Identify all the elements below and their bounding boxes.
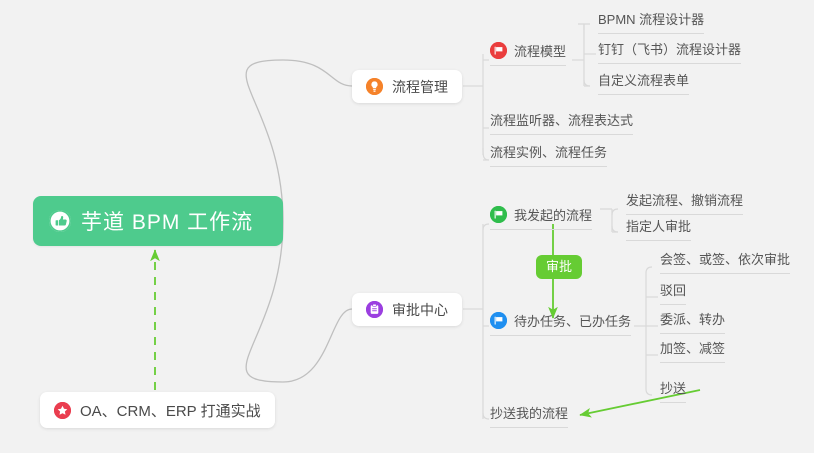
corner-assignee-approval bbox=[612, 226, 618, 232]
node-dingtalk-designer[interactable]: 钉钉（飞书）流程设计器 bbox=[598, 39, 741, 64]
node-flow-model[interactable]: 流程模型 bbox=[490, 41, 566, 66]
node-label-bpmn-designer: BPMN 流程设计器 bbox=[598, 9, 704, 28]
node-label-assignee-approval: 指定人审批 bbox=[626, 216, 691, 235]
node-label-cc: 抄送 bbox=[660, 378, 686, 397]
corner-bpmn bbox=[584, 24, 590, 30]
node-label-start-revoke-flow: 发起流程、撤销流程 bbox=[626, 190, 743, 209]
node-label-add-remove-sign: 加签、减签 bbox=[660, 338, 725, 357]
clipboard-icon bbox=[366, 301, 383, 318]
node-label-flow-instance: 流程实例、流程任务 bbox=[490, 142, 607, 161]
branch-node-process-management[interactable]: 流程管理 bbox=[352, 70, 462, 103]
node-label-delegate-transfer: 委派、转办 bbox=[660, 309, 725, 328]
node-countersign[interactable]: 会签、或签、依次审批 bbox=[660, 249, 790, 274]
node-bpmn-designer[interactable]: BPMN 流程设计器 bbox=[598, 9, 704, 34]
branch-node-approval-center[interactable]: 审批中心 bbox=[352, 293, 462, 326]
mindmap-canvas: 芋道 BPM 工作流 流程管理 流程模型 BPMN 流程设计器 钉钉（飞书 bbox=[0, 0, 814, 453]
node-cc[interactable]: 抄送 bbox=[660, 378, 686, 403]
node-flow-listener[interactable]: 流程监听器、流程表达式 bbox=[490, 110, 633, 135]
node-label-cc-my-flows: 抄送我的流程 bbox=[490, 403, 568, 422]
node-flow-instance[interactable]: 流程实例、流程任务 bbox=[490, 142, 607, 167]
node-label-flow-listener: 流程监听器、流程表达式 bbox=[490, 110, 633, 129]
node-custom-form[interactable]: 自定义流程表单 bbox=[598, 70, 689, 95]
node-add-remove-sign[interactable]: 加签、减签 bbox=[660, 338, 725, 363]
node-cc-my-flows[interactable]: 抄送我的流程 bbox=[490, 403, 568, 428]
node-label-countersign: 会签、或签、依次审批 bbox=[660, 249, 790, 268]
flag-icon bbox=[490, 206, 507, 223]
node-reject[interactable]: 驳回 bbox=[660, 280, 686, 305]
node-todo-done-tasks[interactable]: 待办任务、已办任务 bbox=[490, 311, 631, 336]
callout-label: OA、CRM、ERP 打通实战 bbox=[80, 400, 261, 421]
trunk-corner-instance bbox=[483, 148, 489, 160]
lightbulb-icon bbox=[366, 78, 383, 95]
trunk-flow-model bbox=[578, 24, 590, 86]
flag-icon bbox=[490, 42, 507, 59]
node-label-todo-done-tasks: 待办任务、已办任务 bbox=[514, 311, 631, 330]
node-label-dingtalk-designer: 钉钉（飞书）流程设计器 bbox=[598, 39, 741, 58]
thumbs-up-icon bbox=[49, 210, 71, 232]
star-icon bbox=[54, 402, 71, 419]
node-label-custom-form: 自定义流程表单 bbox=[598, 70, 689, 89]
branch-label-approval-center: 审批中心 bbox=[392, 300, 448, 320]
branch-label-process-management: 流程管理 bbox=[392, 77, 448, 97]
root-node[interactable]: 芋道 BPM 工作流 bbox=[33, 196, 283, 246]
trunk-my-flows bbox=[600, 209, 618, 232]
approval-badge: 审批 bbox=[536, 255, 582, 279]
node-start-revoke-flow[interactable]: 发起流程、撤销流程 bbox=[626, 190, 743, 215]
node-my-initiated-flows[interactable]: 我发起的流程 bbox=[490, 205, 592, 230]
node-delegate-transfer[interactable]: 委派、转办 bbox=[660, 309, 725, 334]
flag-icon bbox=[490, 312, 507, 329]
node-label-flow-model: 流程模型 bbox=[514, 41, 566, 60]
corner-cc-my-flows bbox=[483, 413, 489, 419]
node-label-reject: 驳回 bbox=[660, 280, 686, 299]
root-label: 芋道 BPM 工作流 bbox=[81, 206, 253, 236]
callout-node-integration[interactable]: OA、CRM、ERP 打通实战 bbox=[40, 392, 275, 428]
corner-my-flows bbox=[483, 224, 489, 230]
corner-start-revoke bbox=[612, 209, 618, 215]
corner-cc bbox=[646, 389, 652, 395]
node-label-my-initiated-flows: 我发起的流程 bbox=[514, 205, 592, 224]
corner-countersign bbox=[646, 267, 652, 273]
node-assignee-approval[interactable]: 指定人审批 bbox=[626, 216, 691, 241]
corner-custom-form bbox=[584, 80, 590, 86]
